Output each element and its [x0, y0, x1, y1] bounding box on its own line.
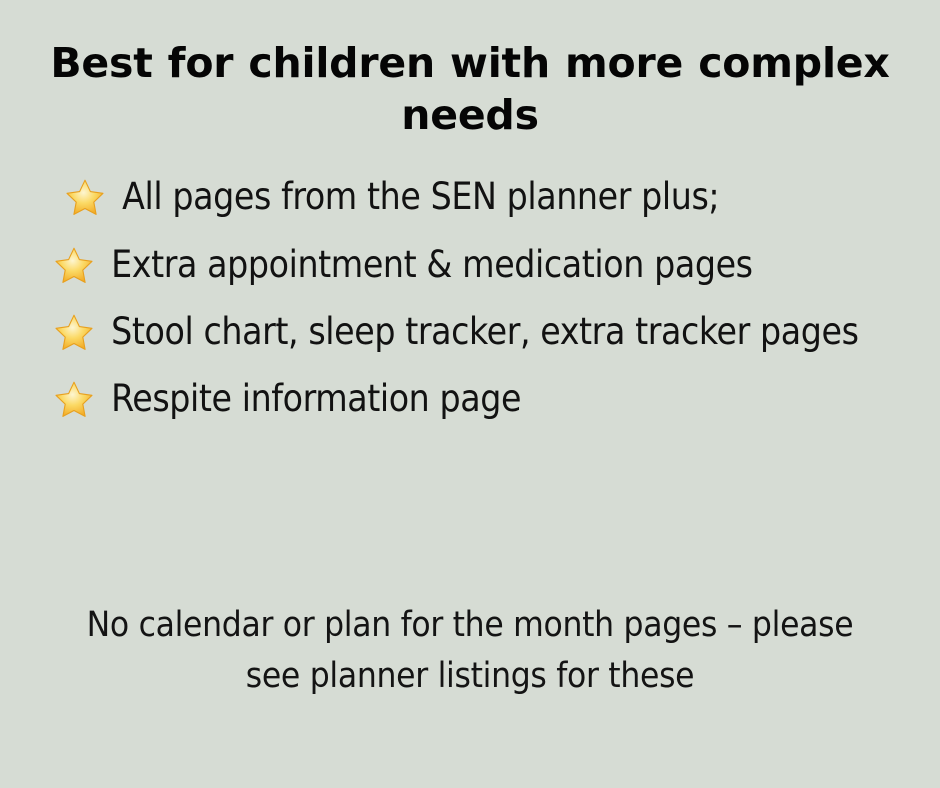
list-item: Extra appointment & medication pages — [54, 231, 910, 298]
promo-slide: Best for children with more complex need… — [0, 0, 940, 788]
list-item-label: All pages from the SEN planner plus; — [112, 175, 719, 218]
star-icon — [54, 238, 94, 276]
feature-bullet-list: All pages from the SEN planner plus; Ext… — [0, 141, 940, 432]
page-title: Best for children with more complex need… — [0, 0, 940, 141]
star-icon — [54, 372, 94, 410]
list-item-label: Extra appointment & medication pages — [101, 243, 753, 286]
star-icon — [65, 170, 105, 208]
list-item: Stool chart, sleep tracker, extra tracke… — [54, 298, 910, 365]
footnote-text: No calendar or plan for the month pages … — [0, 600, 940, 702]
list-item: All pages from the SEN planner plus; — [54, 163, 910, 230]
list-item: Respite information page — [54, 365, 910, 432]
list-item-label: Respite information page — [101, 377, 521, 420]
list-item-label: Stool chart, sleep tracker, extra tracke… — [101, 310, 859, 353]
star-icon — [54, 305, 94, 343]
